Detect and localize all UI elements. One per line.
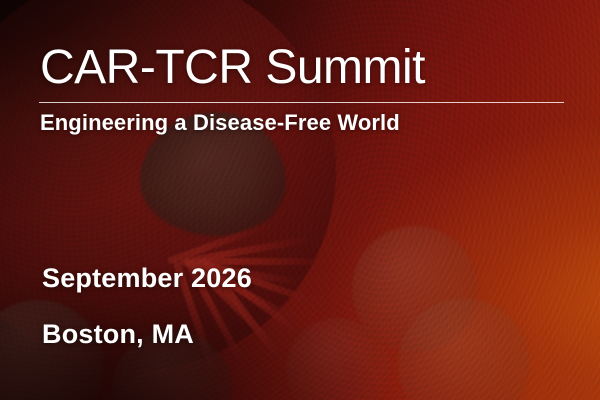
event-date: September 2026: [42, 264, 252, 294]
banner-content: CAR-TCR Summit Engineering a Disease-Fre…: [0, 0, 600, 400]
event-banner: CAR-TCR Summit Engineering a Disease-Fre…: [0, 0, 600, 400]
event-tagline: Engineering a Disease-Free World: [40, 110, 400, 136]
event-title: CAR-TCR Summit: [40, 44, 425, 92]
title-divider: [39, 102, 564, 103]
event-location: Boston, MA: [42, 320, 194, 350]
